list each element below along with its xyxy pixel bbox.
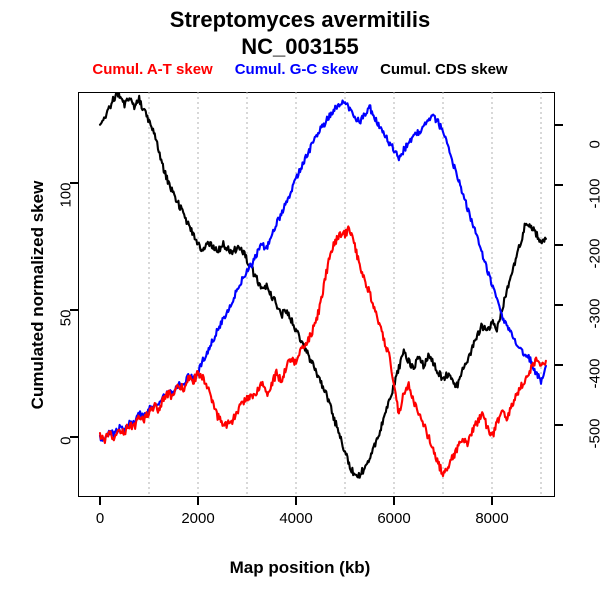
axis-tick: [555, 124, 563, 126]
axis-tick: [99, 497, 101, 505]
page-title: Streptomyces avermitilis: [0, 6, 600, 33]
y-tick-label-left: 100: [59, 183, 74, 223]
chart-page: Streptomyces avermitilis NC_003155 Cumul…: [0, 0, 600, 600]
axis-tick: [491, 497, 493, 505]
y-tick-label-right: -400: [588, 341, 600, 389]
series-line-at-skew: [100, 226, 546, 476]
x-tick-label: 2000: [168, 511, 228, 526]
gridlines: [149, 92, 541, 497]
axis-tick: [295, 497, 297, 505]
y-tick-label-left: 0: [59, 437, 74, 477]
axis-tick: [555, 244, 563, 246]
legend-item-gc-skew: Cumul. G-C skew: [235, 61, 358, 78]
x-tick-label: 4000: [266, 511, 326, 526]
axis-tick: [555, 424, 563, 426]
x-tick-label: 8000: [462, 511, 522, 526]
axis-tick: [555, 184, 563, 186]
y-tick-label-right: -300: [588, 281, 600, 329]
y-tick-label-left: 50: [59, 310, 74, 350]
legend: Cumul. A-T skew Cumul. G-C skew Cumul. C…: [0, 61, 600, 78]
page-subtitle: NC_003155: [0, 33, 600, 60]
x-tick-label: 0: [70, 511, 130, 526]
legend-item-cds-skew: Cumul. CDS skew: [380, 61, 508, 78]
axis-tick: [393, 497, 395, 505]
y-tick-label-right: -100: [588, 161, 600, 209]
axis-tick: [197, 497, 199, 505]
x-axis-title: Map position (kb): [0, 558, 600, 578]
plot-area: [78, 92, 555, 497]
title-block: Streptomyces avermitilis NC_003155: [0, 6, 600, 60]
y-tick-label-right: -200: [588, 221, 600, 269]
y-tick-label-right: 0: [588, 101, 600, 149]
axis-tick: [555, 304, 563, 306]
legend-item-at-skew: Cumul. A-T skew: [92, 61, 212, 78]
axis-tick: [555, 364, 563, 366]
y-axis-title: Cumulated normalized skew: [28, 165, 48, 425]
y-tick-label-right: -500: [588, 401, 600, 449]
x-tick-label: 6000: [364, 511, 424, 526]
